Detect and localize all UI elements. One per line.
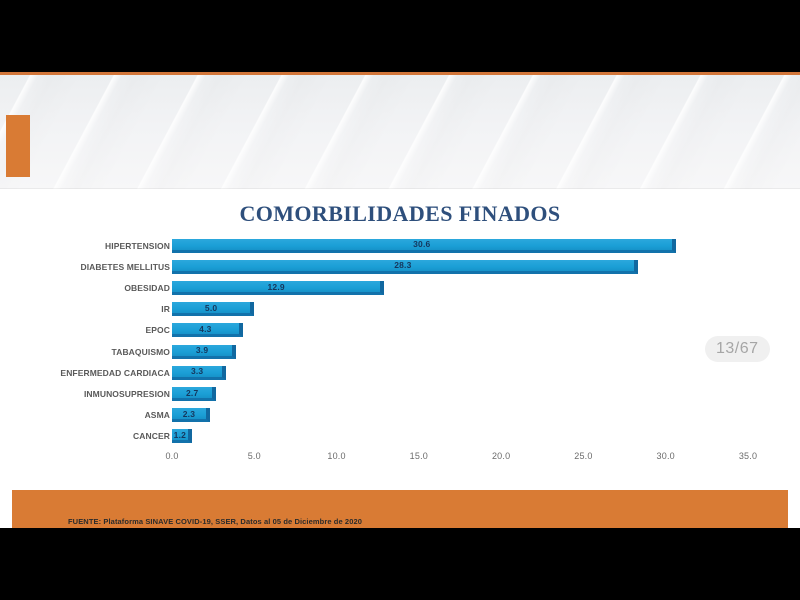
chart-bar-value-label: 3.9 xyxy=(196,345,208,355)
slide-viewer: MORTALIDAD Contigo al 100 COMORBILIDADES… xyxy=(0,0,800,600)
chart-bar-row: 2.7 xyxy=(172,383,748,404)
chart-bar: 30.6 xyxy=(172,239,676,253)
chart-x-tick-label: 15.0 xyxy=(410,451,428,461)
chart-bar-value-label: 12.9 xyxy=(267,282,284,292)
chart-category-label: OBESIDAD xyxy=(24,277,170,298)
chart-x-axis: 0.05.010.015.020.025.030.035.0 xyxy=(172,451,748,469)
chart-bar-row: 5.0 xyxy=(172,299,748,320)
chart-category-axis: HIPERTENSIONDIABETES MELLITUSOBESIDADIRE… xyxy=(24,235,170,447)
chart-bar: 5.0 xyxy=(172,302,254,316)
chart-x-tick-label: 10.0 xyxy=(327,451,345,461)
chart-bar-value-label: 2.7 xyxy=(186,388,198,398)
slide-footer-band: FUENTE: Plataforma SINAVE COVID-19, SSER… xyxy=(12,490,788,528)
chart-bar-row: 3.9 xyxy=(172,341,748,362)
chart-x-tick-label: 20.0 xyxy=(492,451,510,461)
chart-bar-value-label: 1.2 xyxy=(174,430,186,440)
chart-category-label: DIABETES MELLITUS xyxy=(24,256,170,277)
chart-category-label: IR xyxy=(24,299,170,320)
page-indicator: 13/67 xyxy=(705,336,770,362)
chart-bar-row: 2.3 xyxy=(172,405,748,426)
chart-x-tick-label: 0.0 xyxy=(165,451,178,461)
chart-bar-row: 30.6 xyxy=(172,235,748,256)
chart-category-label: TABAQUISMO xyxy=(24,341,170,362)
chart-category-label: ASMA xyxy=(24,405,170,426)
chart-x-tick-label: 30.0 xyxy=(657,451,675,461)
source-note: FUENTE: Plataforma SINAVE COVID-19, SSER… xyxy=(68,517,362,526)
chart-x-tick-label: 5.0 xyxy=(248,451,261,461)
chart-bar: 3.3 xyxy=(172,366,226,380)
chart-plot-area: HIPERTENSIONDIABETES MELLITUSOBESIDADIRE… xyxy=(12,235,788,485)
chart-bar: 1.2 xyxy=(172,429,192,443)
chart-bar-value-label: 30.6 xyxy=(413,239,430,249)
chart-bar: 12.9 xyxy=(172,281,384,295)
chart-bar: 3.9 xyxy=(172,345,236,359)
slide-header-band xyxy=(0,75,800,189)
chart-x-tick-label: 35.0 xyxy=(739,451,757,461)
chart-bar-value-label: 5.0 xyxy=(205,303,217,313)
chart-bar: 2.7 xyxy=(172,387,216,401)
chart-category-label: CANCER xyxy=(24,426,170,447)
chart-bar-value-label: 4.3 xyxy=(199,324,211,334)
chart-category-label: INMUNOSUPRESION xyxy=(24,383,170,404)
chart-title: COMORBILIDADES FINADOS xyxy=(12,201,788,227)
chart-x-tick-label: 25.0 xyxy=(574,451,592,461)
chart-bar: 28.3 xyxy=(172,260,638,274)
chart-bar-value-label: 3.3 xyxy=(191,366,203,376)
chart-bar-row: 12.9 xyxy=(172,277,748,298)
letterbox-top xyxy=(0,0,800,72)
chart-bar-row: 4.3 xyxy=(172,320,748,341)
chart-bar-row: 3.3 xyxy=(172,362,748,383)
chart-panel: COMORBILIDADES FINADOS HIPERTENSIONDIABE… xyxy=(12,189,788,490)
letterbox-bottom xyxy=(0,528,800,600)
slide-canvas: MORTALIDAD Contigo al 100 COMORBILIDADES… xyxy=(0,72,800,528)
chart-category-label: EPOC xyxy=(24,320,170,341)
chart-category-label: ENFERMEDAD CARDIACA xyxy=(24,362,170,383)
title-accent-bar xyxy=(6,115,30,177)
chart-bar-row: 1.2 xyxy=(172,426,748,447)
chart-bars-container: 30.628.312.95.04.33.93.32.72.31.2 xyxy=(172,235,748,447)
chart-bar-value-label: 28.3 xyxy=(394,260,411,270)
chart-bar: 4.3 xyxy=(172,323,243,337)
chart-category-label: HIPERTENSION xyxy=(24,235,170,256)
chart-bar-row: 28.3 xyxy=(172,256,748,277)
chart-bar-value-label: 2.3 xyxy=(183,409,195,419)
chart-bar: 2.3 xyxy=(172,408,210,422)
